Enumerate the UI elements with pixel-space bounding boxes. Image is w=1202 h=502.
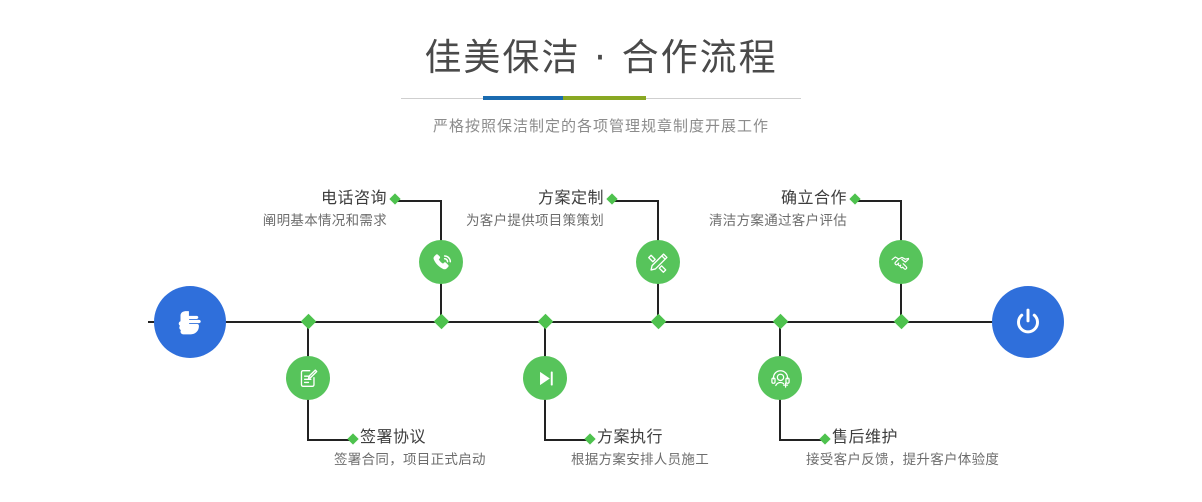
document-sign-icon (296, 366, 321, 391)
step-node-6[interactable] (758, 356, 802, 400)
step-node-4[interactable] (523, 356, 567, 400)
handshake-icon (889, 250, 914, 275)
timeline-marker-1 (434, 314, 450, 330)
step-desc-6: 接受客户反馈，提升客户体验度 (806, 447, 1112, 470)
pointing-hand-icon (171, 303, 209, 341)
timeline-start-node[interactable] (154, 286, 226, 358)
phone-call-icon (429, 250, 454, 275)
step-node-5[interactable] (879, 240, 923, 284)
label-marker-2 (347, 433, 358, 444)
step-label-3: 方案定制 为客户提供项目策策划 (352, 188, 604, 231)
step-label-5: 确立合作 清洁方案通过客户评估 (595, 188, 847, 231)
step-title-1: 电话咨询 (135, 188, 387, 208)
step-node-1[interactable] (419, 240, 463, 284)
power-icon (1009, 303, 1047, 341)
step-desc-3: 为客户提供项目策策划 (352, 208, 604, 231)
connector-arm-5 (856, 200, 901, 202)
timeline-marker-5 (894, 314, 910, 330)
timeline-end-node[interactable] (992, 286, 1064, 358)
step-desc-1: 阐明基本情况和需求 (135, 208, 387, 231)
play-skip-icon (533, 366, 558, 391)
pencil-ruler-icon (646, 250, 671, 275)
connector-arm-2 (307, 439, 352, 441)
step-label-1: 电话咨询 阐明基本情况和需求 (135, 188, 387, 231)
timeline: 电话咨询 阐明基本情况和需求 签署协议 签署合同，项目正式启动 (0, 0, 1202, 502)
step-title-5: 确立合作 (595, 188, 847, 208)
step-label-6: 售后维护 接受客户反馈，提升客户体验度 (832, 427, 1112, 470)
timeline-marker-4 (538, 314, 554, 330)
timeline-marker-3 (651, 314, 667, 330)
step-node-3[interactable] (636, 240, 680, 284)
timeline-marker-2 (301, 314, 317, 330)
label-marker-5 (849, 193, 860, 204)
step-desc-5: 清洁方案通过客户评估 (595, 208, 847, 231)
step-node-2[interactable] (286, 356, 330, 400)
step-title-6: 售后维护 (832, 427, 1112, 447)
timeline-marker-6 (773, 314, 789, 330)
step-title-2: 签署协议 (360, 427, 620, 447)
cooperation-process-infographic: 佳美保洁 · 合作流程 严格按照保洁制定的各项管理规章制度开展工作 (0, 0, 1202, 502)
headset-support-icon (768, 366, 793, 391)
step-title-4: 方案执行 (597, 427, 857, 447)
timeline-axis (148, 321, 1054, 323)
